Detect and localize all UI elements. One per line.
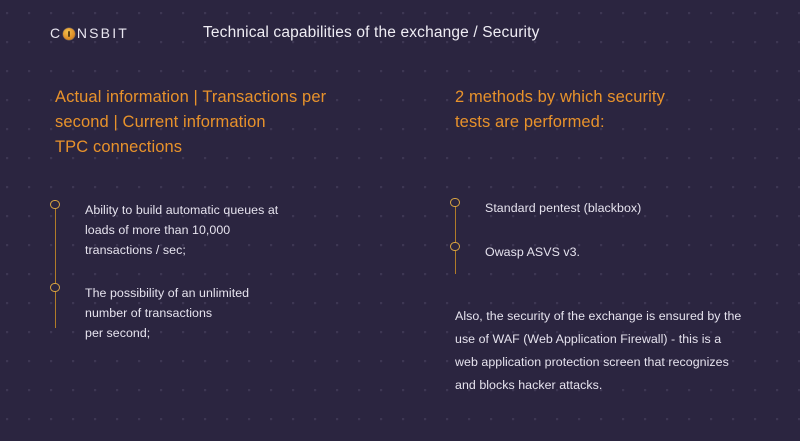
consbit-logo[interactable]: C NSBIT [50, 25, 129, 41]
list-item-line: number of transactions [85, 303, 278, 323]
right-heading-line-1: 2 methods by which security [455, 85, 665, 110]
closing-note-line: and blocks hacker attacks. [455, 374, 785, 397]
logo-prefix-text: C [50, 25, 62, 41]
slide-canvas: C NSBIT Technical capabilities of the ex… [0, 0, 800, 441]
list-item-line: Ability to build automatic queues at [85, 200, 278, 220]
list-item-line: transactions / sec; [85, 240, 278, 260]
list-item-text: Standard pentest (blackbox) [485, 198, 641, 218]
security-closing-note: Also, the security of the exchange is en… [455, 305, 785, 397]
timeline-node-circle-icon [50, 283, 59, 292]
closing-note-line: use of WAF (Web Application Firewall) - … [455, 328, 785, 351]
list-item-line: Standard pentest (blackbox) [485, 198, 641, 218]
list-item: Owasp ASVS v3. [455, 242, 641, 262]
logo-suffix-text: NSBIT [77, 25, 129, 41]
list-item-line: per second; [85, 323, 278, 343]
timeline-node-circle-icon [450, 198, 459, 207]
right-column-heading: 2 methods by which security tests are pe… [455, 85, 665, 135]
right-heading-line-2: tests are performed: [455, 110, 665, 135]
coin-icon [63, 28, 75, 40]
slide-header: C NSBIT Technical capabilities of the ex… [0, 0, 800, 62]
left-heading-line-1: Actual information | Transactions per [55, 85, 326, 110]
list-item: Standard pentest (blackbox) [455, 198, 641, 218]
list-item: Ability to build automatic queues at loa… [55, 200, 278, 260]
left-heading-line-3: TPC connections [55, 135, 326, 160]
timeline-node-circle-icon [50, 200, 59, 209]
list-item-line: The possibility of an unlimited [85, 283, 278, 303]
list-item-text: Owasp ASVS v3. [485, 242, 641, 262]
list-item: The possibility of an unlimited number o… [55, 283, 278, 343]
page-title: Technical capabilities of the exchange /… [203, 24, 539, 42]
list-item-text: Ability to build automatic queues at loa… [85, 200, 278, 260]
timeline-node-circle-icon [450, 242, 459, 251]
left-heading-line-2: second | Current information [55, 110, 326, 135]
left-column-heading: Actual information | Transactions per se… [55, 85, 326, 160]
list-item-text: The possibility of an unlimited number o… [85, 283, 278, 343]
list-item-line: loads of more than 10,000 [85, 220, 278, 240]
left-timeline-list: Ability to build automatic queues at loa… [55, 200, 278, 343]
list-item-line: Owasp ASVS v3. [485, 242, 641, 262]
closing-note-line: web application protection screen that r… [455, 351, 785, 374]
right-timeline-list: Standard pentest (blackbox) Owasp ASVS v… [455, 198, 641, 262]
closing-note-line: Also, the security of the exchange is en… [455, 305, 785, 328]
